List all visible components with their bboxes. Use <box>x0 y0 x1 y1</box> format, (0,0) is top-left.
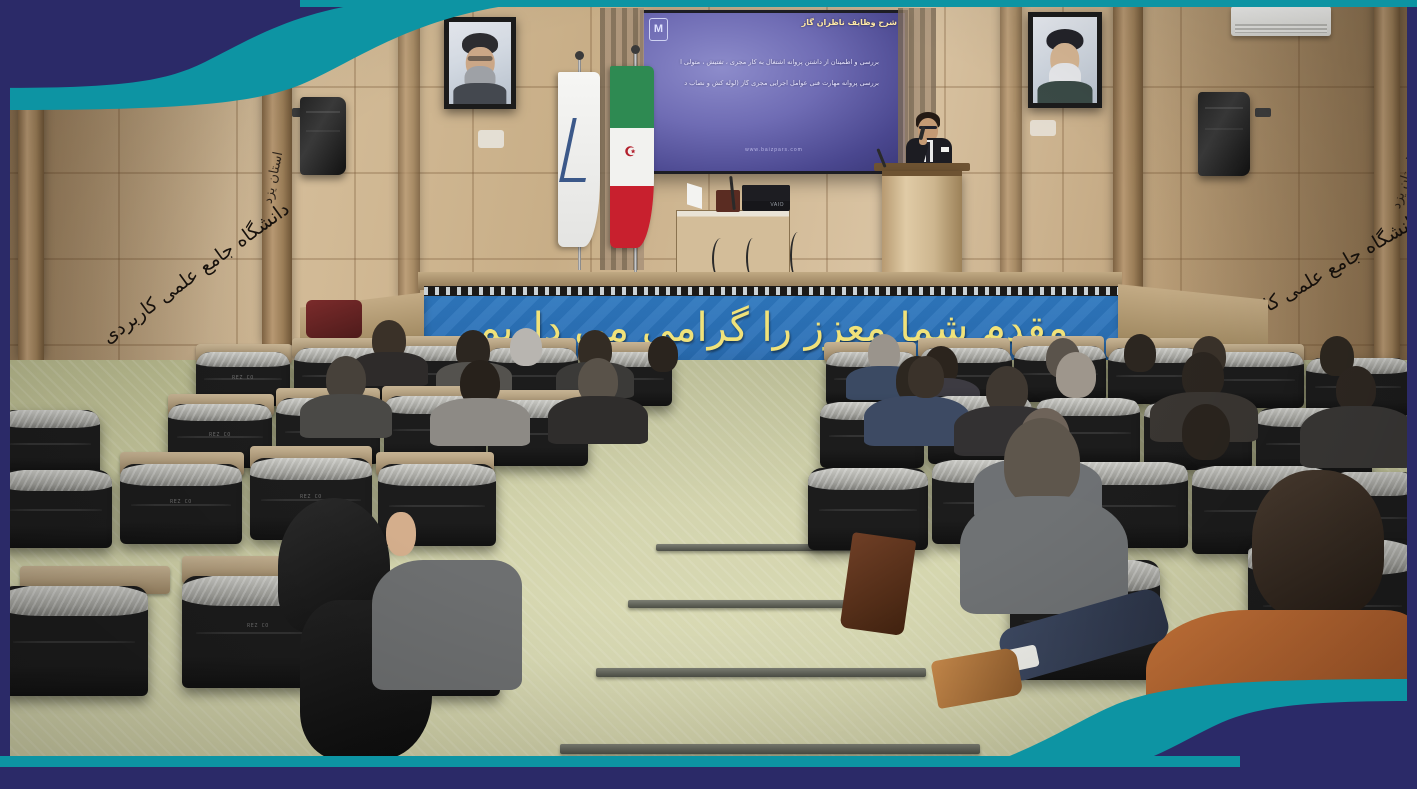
slide-url: www.baizpars.com <box>643 147 905 153</box>
audience-shoulders <box>548 396 648 444</box>
laptop-brand-label: VAIO <box>770 202 784 208</box>
portrait-frame-khomeini <box>1028 12 1102 108</box>
conference-hall-photo: استان یزد دانشگاه جامع علمی کاربردی استا… <box>0 0 1417 789</box>
audience-head <box>1056 352 1096 398</box>
presentation-table <box>676 210 790 278</box>
projected-slide: M شرح وظایف ناظران گاز بررسی و اطمینان ا… <box>643 13 905 171</box>
seat[interactable] <box>0 470 112 548</box>
audience-head <box>648 336 678 372</box>
briefcase-on-floor <box>840 532 917 636</box>
audience-woman-shoulders <box>372 560 522 690</box>
projector-screen-frame: M شرح وظایف ناظران گاز بررسی و اطمینان ا… <box>640 10 908 174</box>
audience-woman-face <box>386 512 416 556</box>
seat-brand-tag: REZ CO <box>300 494 322 500</box>
seat-brand-tag: REZ CO <box>209 432 231 438</box>
speaker-mount-right <box>1255 108 1271 117</box>
slide-bullet-2: بررسی پروانه مهارت فنی عوامل اجرایی مجری… <box>657 80 879 87</box>
slide-logo-icon: M <box>649 18 668 41</box>
portrait-image-khamenei <box>449 22 511 104</box>
wall-calligraphy-left: استان یزد دانشگاه جامع علمی کاربردی <box>157 150 288 272</box>
audience-head <box>1182 404 1230 460</box>
audience-shoulders <box>1300 406 1417 468</box>
aisle-step-4 <box>560 744 980 754</box>
audience-man-leather-jacket <box>1146 610 1417 770</box>
wall-fixture-left <box>478 130 504 148</box>
wall-column-left-inner <box>398 0 420 300</box>
iran-flag-emblem: ☪ <box>624 144 636 160</box>
air-conditioner-right <box>1231 6 1331 36</box>
wall-fixture-right <box>1030 120 1056 136</box>
audience-man-leather-head <box>1252 470 1384 620</box>
seat[interactable]: REZ CO <box>120 464 242 544</box>
audience-man-grey-head <box>1004 418 1080 506</box>
slide-title: شرح وظایف ناظران گاز <box>802 18 897 27</box>
seat[interactable] <box>0 410 100 476</box>
institution-flag-emblem <box>560 118 599 182</box>
audience-shoulders <box>430 398 530 446</box>
screenshot-root: استان یزد دانشگاه جامع علمی کاربردی استا… <box>0 0 1417 789</box>
portrait-image-khomeini <box>1033 17 1097 103</box>
laptop: VAIO <box>742 185 790 211</box>
audience-man-grey-shoulders <box>960 496 1128 614</box>
audience-head <box>510 328 542 366</box>
wall-column-right-inner <box>1000 0 1022 300</box>
stage-chair-left <box>306 300 362 338</box>
pa-speaker-right <box>1198 92 1250 176</box>
slide-bullet-list: بررسی و اطمینان از داشتن پروانه اشتغال ب… <box>657 59 891 101</box>
seat[interactable] <box>0 586 148 696</box>
seat-brand-tag: REZ CO <box>247 623 269 629</box>
air-conditioner-left <box>243 18 318 42</box>
pa-speaker-left <box>300 97 346 175</box>
audience-head <box>1124 334 1156 372</box>
portrait-frame-khamenei <box>444 17 516 109</box>
desk-object-box <box>716 190 740 212</box>
seat-brand-tag: REZ CO <box>170 499 192 505</box>
iran-flag: ☪ <box>610 66 654 248</box>
institution-flag <box>558 72 600 247</box>
audience-head <box>908 356 944 398</box>
wall-calligraphy-right: استان یزد دانشگاه جامع علمی کاربردی <box>1284 148 1411 266</box>
podium <box>882 171 962 286</box>
pocket-square <box>941 147 949 152</box>
podium-top <box>874 163 970 171</box>
banner-border-top <box>424 286 1120 296</box>
slide-bullet-1: بررسی و اطمینان از داشتن پروانه اشتغال ب… <box>657 59 879 66</box>
seat-brand-tag: REZ CO <box>232 375 254 381</box>
audience-shoulders <box>300 394 392 438</box>
aisle-step-3 <box>596 668 926 677</box>
wall-column-far-left <box>18 0 44 360</box>
